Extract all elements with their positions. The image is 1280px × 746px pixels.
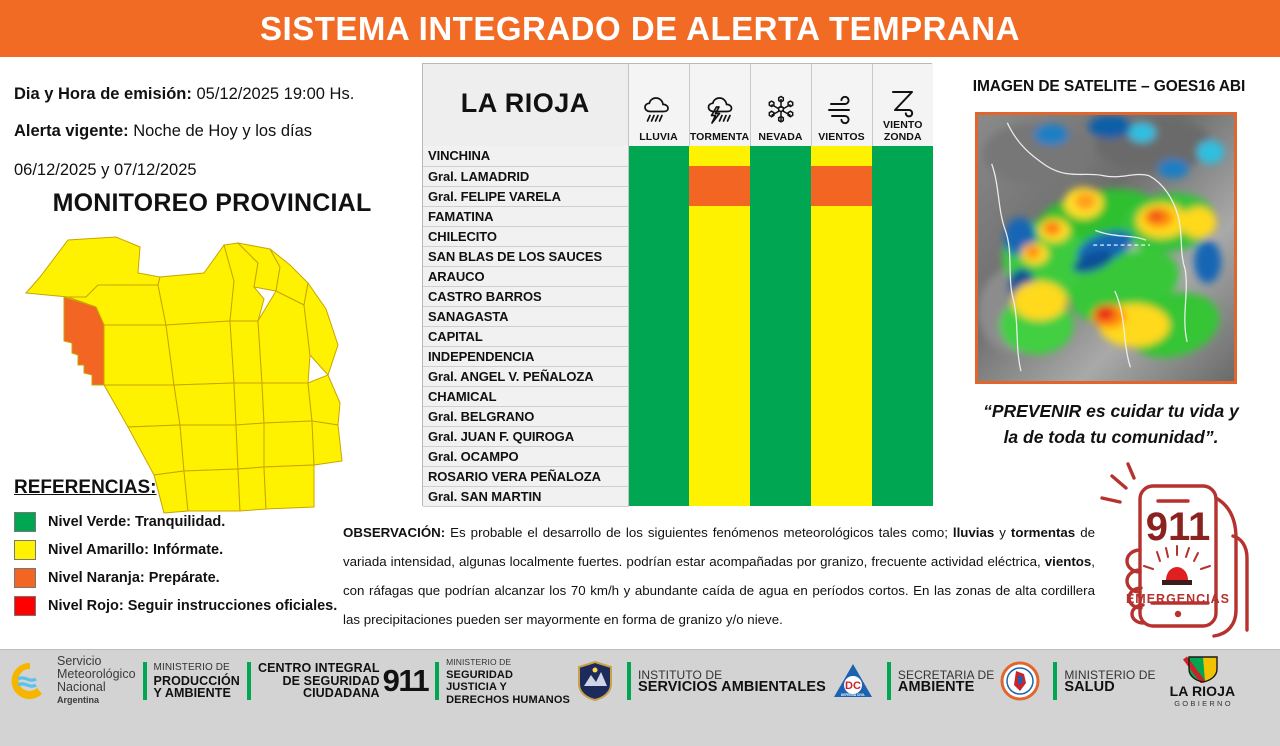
emission-value: 05/12/2025 19:00 Hs. bbox=[196, 85, 354, 103]
column-header-viento-zonda: VIENTO ZONDA bbox=[872, 64, 933, 146]
logo-ministerio-seguridad-justicia: MINISTERIO DE SEGURIDAD JUSTICIA Y DEREC… bbox=[446, 656, 570, 706]
table-row: FAMATINA bbox=[423, 206, 933, 226]
swatch-red bbox=[14, 596, 36, 616]
table-row: Gral. LAMADRID bbox=[423, 166, 933, 186]
logo-centro-integral-seguridad: CENTRO INTEGRAL DE SEGURIDAD CIUDADANA 9… bbox=[258, 656, 428, 706]
alert-level-cell bbox=[750, 146, 811, 166]
alert-level-cell bbox=[872, 386, 933, 406]
table-row: Gral. FELIPE VARELA bbox=[423, 186, 933, 206]
alert-level-cell bbox=[811, 386, 872, 406]
alert-level-cell bbox=[628, 146, 689, 166]
table-row: CAPITAL bbox=[423, 326, 933, 346]
alert-level-cell bbox=[750, 206, 811, 226]
quote-line-2: la de toda tu comunidad”. bbox=[950, 424, 1272, 450]
logo-ministerio-produccion-ambiente: MINISTERIO DE PRODUCCIÓN Y AMBIENTE bbox=[154, 656, 240, 706]
divider bbox=[247, 662, 251, 700]
quote-line-1: “PREVENIR es cuidar tu vida y bbox=[950, 398, 1272, 424]
column-header-tormenta: TORMENTA bbox=[689, 64, 750, 146]
alert-level-cell bbox=[872, 366, 933, 386]
column-label: VIENTOS bbox=[812, 132, 872, 144]
table-header-row: LA RIOJA LLUVIA bbox=[423, 64, 933, 146]
alert-level-cell bbox=[750, 186, 811, 206]
alert-level-cell bbox=[872, 226, 933, 246]
emergency-caption: EMERGENCIAS bbox=[1126, 592, 1230, 606]
alert-level-cell bbox=[689, 166, 750, 186]
department-name: Gral. SAN MARTIN bbox=[423, 486, 628, 506]
alert-level-cell bbox=[689, 466, 750, 486]
alert-level-cell bbox=[689, 146, 750, 166]
alert-level-cell bbox=[689, 406, 750, 426]
page-banner: SISTEMA INTEGRADO DE ALERTA TEMPRANA bbox=[0, 0, 1280, 57]
zonda-wind-icon bbox=[873, 86, 934, 120]
alert-level-cell bbox=[750, 286, 811, 306]
divider bbox=[887, 662, 891, 700]
alert-level-cell bbox=[628, 366, 689, 386]
policia-shield-icon bbox=[576, 656, 614, 706]
alert-level-cell bbox=[750, 426, 811, 446]
department-name: Gral. FELIPE VARELA bbox=[423, 186, 628, 206]
msj-bold1: SEGURIDAD bbox=[446, 669, 570, 682]
alert-level-cell bbox=[811, 146, 872, 166]
alert-level-cell bbox=[750, 306, 811, 326]
defensa-civil-icon: DC DEFENSA CIVIL bbox=[832, 656, 874, 706]
observation-part1: Es probable el desarrollo de los siguien… bbox=[445, 525, 953, 540]
alert-level-cell bbox=[628, 266, 689, 286]
alert-level-cell bbox=[872, 306, 933, 326]
table-row: SANAGASTA bbox=[423, 306, 933, 326]
department-name: CAPITAL bbox=[423, 326, 628, 346]
department-name: CASTRO BARROS bbox=[423, 286, 628, 306]
svg-text:DC: DC bbox=[845, 680, 861, 692]
lr-small: G O B I E R N O bbox=[1174, 699, 1231, 708]
alert-level-cell bbox=[628, 446, 689, 466]
observation-part2: y bbox=[994, 525, 1011, 540]
department-name: CHAMICAL bbox=[423, 386, 628, 406]
alert-level-cell bbox=[872, 166, 933, 186]
department-name: VINCHINA bbox=[423, 146, 628, 166]
reference-label: Nivel Rojo: Seguir instrucciones oficial… bbox=[48, 598, 337, 614]
department-name: Gral. BELGRANO bbox=[423, 406, 628, 426]
msj-bold3: DERECHOS HUMANOS bbox=[446, 694, 570, 707]
alert-level-cell bbox=[811, 366, 872, 386]
alert-level-cell bbox=[689, 366, 750, 386]
smn-text-block: Servicio Meteorológico Nacional Argentin… bbox=[57, 655, 136, 707]
alert-level-cell bbox=[628, 186, 689, 206]
column-label: TORMENTA bbox=[690, 132, 750, 144]
table-row: ROSARIO VERA PEÑALOZA bbox=[423, 466, 933, 486]
alert-level-cell bbox=[628, 246, 689, 266]
table-row: CHILECITO bbox=[423, 226, 933, 246]
lr-bold1: LA RIOJA bbox=[1170, 683, 1236, 699]
alert-level-cell bbox=[811, 286, 872, 306]
alert-level-cell bbox=[811, 406, 872, 426]
msj-bold2: JUSTICIA Y bbox=[446, 681, 570, 694]
validity-dates: 06/12/2025 y 07/12/2025 bbox=[14, 161, 197, 180]
alert-level-cell bbox=[750, 386, 811, 406]
observation-bold-tormentas: tormentas bbox=[1011, 525, 1075, 540]
column-header-vientos: VIENTOS bbox=[811, 64, 872, 146]
alert-level-cell bbox=[689, 326, 750, 346]
satellite-title: IMAGEN DE SATELITE – GOES16 ABI bbox=[940, 78, 1278, 96]
alert-level-cell bbox=[750, 446, 811, 466]
jefatura-gabinete-seal-icon bbox=[1000, 656, 1040, 706]
alert-level-cell bbox=[628, 326, 689, 346]
alert-level-cell bbox=[750, 466, 811, 486]
alert-level-cell bbox=[628, 206, 689, 226]
divider bbox=[627, 662, 631, 700]
department-name: INDEPENDENCIA bbox=[423, 346, 628, 366]
alert-level-cell bbox=[811, 326, 872, 346]
la-rioja-province-map bbox=[8, 225, 418, 515]
reference-label: Nivel Verde: Tranquilidad. bbox=[48, 514, 225, 530]
alert-level-cell bbox=[689, 346, 750, 366]
alert-level-cell bbox=[750, 266, 811, 286]
alert-level-cell bbox=[811, 446, 872, 466]
alert-level-cell bbox=[689, 226, 750, 246]
observation-label: OBSERVACIÓN: bbox=[343, 525, 445, 540]
wind-icon bbox=[812, 88, 872, 132]
column-header-nevada: NEVADA bbox=[750, 64, 811, 146]
satellite-image bbox=[975, 112, 1237, 384]
table-row: SAN BLAS DE LOS SAUCES bbox=[423, 246, 933, 266]
table-row: INDEPENDENCIA bbox=[423, 346, 933, 366]
alerts-table-container: LA RIOJA LLUVIA bbox=[422, 63, 932, 506]
alert-level-cell bbox=[872, 246, 933, 266]
alert-level-cell bbox=[628, 346, 689, 366]
alert-level-cell bbox=[811, 186, 872, 206]
references-title: REFERENCIAS: bbox=[14, 477, 157, 499]
alert-level-cell bbox=[689, 186, 750, 206]
department-name: ROSARIO VERA PEÑALOZA bbox=[423, 466, 628, 486]
alert-level-cell bbox=[872, 446, 933, 466]
rain-cloud-icon bbox=[629, 88, 689, 132]
alert-level-cell bbox=[689, 266, 750, 286]
department-name: CHILECITO bbox=[423, 226, 628, 246]
swatch-orange bbox=[14, 568, 36, 588]
alert-level-cell bbox=[689, 386, 750, 406]
smn-emblem-icon bbox=[8, 660, 52, 702]
department-name: Gral. ANGEL V. PEÑALOZA bbox=[423, 366, 628, 386]
table-row: ARAUCO bbox=[423, 266, 933, 286]
alert-level-cell bbox=[811, 166, 872, 186]
alert-level-cell bbox=[811, 306, 872, 326]
divider bbox=[1053, 662, 1057, 700]
alert-level-cell bbox=[872, 266, 933, 286]
alert-level-cell bbox=[872, 326, 933, 346]
cisc-911: 911 bbox=[383, 663, 429, 699]
alert-level-cell bbox=[628, 426, 689, 446]
alert-level-cell bbox=[811, 266, 872, 286]
alert-level-cell bbox=[628, 386, 689, 406]
swatch-yellow bbox=[14, 540, 36, 560]
smn-line4: Argentina bbox=[57, 694, 136, 707]
table-row: CHAMICAL bbox=[423, 386, 933, 406]
alert-level-cell bbox=[628, 226, 689, 246]
satellite-quote: “PREVENIR es cuidar tu vida y la de toda… bbox=[950, 398, 1272, 450]
alert-level-cell bbox=[689, 426, 750, 446]
alert-level-cell bbox=[689, 246, 750, 266]
alert-level-cell bbox=[872, 486, 933, 506]
swatch-green bbox=[14, 512, 36, 532]
logo-strip: Servicio Meteorológico Nacional Argentin… bbox=[0, 654, 1280, 708]
column-header-lluvia: LLUVIA bbox=[628, 64, 689, 146]
observation-bold-lluvias: lluvias bbox=[953, 525, 994, 540]
alert-level-cell bbox=[811, 486, 872, 506]
table-row: Gral. JUAN F. QUIROGA bbox=[423, 426, 933, 446]
snowflake-icon bbox=[751, 88, 811, 132]
alert-level-cell bbox=[628, 466, 689, 486]
mpa-bold2: Y AMBIENTE bbox=[154, 687, 240, 700]
alert-level-cell bbox=[689, 446, 750, 466]
sa-bold1: AMBIENTE bbox=[898, 681, 994, 694]
column-label: VIENTO ZONDA bbox=[873, 120, 934, 143]
msj-small: MINISTERIO DE bbox=[446, 656, 570, 669]
mpa-small: MINISTERIO DE bbox=[154, 662, 240, 675]
alert-level-cell bbox=[628, 166, 689, 186]
emission-label: Dia y Hora de emisión: bbox=[14, 85, 192, 103]
alert-level-cell bbox=[750, 226, 811, 246]
alert-level-cell bbox=[689, 206, 750, 226]
department-name: SAN BLAS DE LOS SAUCES bbox=[423, 246, 628, 266]
logo-instituto-servicios-ambientales: INSTITUTO DE SERVICIOS AMBIENTALES bbox=[638, 656, 826, 706]
reference-label: Nivel Amarillo: Infórmate. bbox=[48, 542, 223, 558]
validity-label: Alerta vigente: bbox=[14, 122, 129, 140]
column-label: LLUVIA bbox=[629, 132, 689, 144]
la-rioja-shield-icon bbox=[1183, 655, 1221, 683]
table-row: VINCHINA bbox=[423, 146, 933, 166]
logo-ministerio-salud: MINISTERIO DE SALUD bbox=[1064, 656, 1155, 706]
alert-level-cell bbox=[750, 346, 811, 366]
alert-level-cell bbox=[689, 486, 750, 506]
footer-bar: Servicio Meteorológico Nacional Argentin… bbox=[0, 649, 1280, 746]
cisc-bold1: CENTRO INTEGRAL bbox=[258, 662, 380, 675]
smn-line3: Nacional bbox=[57, 681, 136, 694]
alerts-table: LA RIOJA LLUVIA bbox=[423, 64, 933, 507]
column-label: NEVADA bbox=[751, 132, 811, 144]
alert-level-cell bbox=[628, 486, 689, 506]
alert-level-cell bbox=[811, 466, 872, 486]
table-row: Gral. BELGRANO bbox=[423, 406, 933, 426]
alert-level-cell bbox=[750, 366, 811, 386]
alert-level-cell bbox=[750, 406, 811, 426]
validity-line: Alerta vigente: Noche de Hoy y los días bbox=[14, 122, 312, 141]
alert-bulletin-page: SISTEMA INTEGRADO DE ALERTA TEMPRANA Dia… bbox=[0, 0, 1280, 746]
thunderstorm-icon bbox=[690, 88, 750, 132]
section-title: MONITOREO PROVINCIAL bbox=[22, 189, 402, 218]
alert-level-cell bbox=[750, 326, 811, 346]
emergency-number: 911 bbox=[1146, 505, 1211, 549]
alert-level-cell bbox=[628, 306, 689, 326]
alert-level-cell bbox=[689, 286, 750, 306]
observation-bold-vientos: vientos bbox=[1045, 554, 1092, 569]
table-row: Gral. SAN MARTIN bbox=[423, 486, 933, 506]
alert-level-cell bbox=[811, 246, 872, 266]
alert-level-cell bbox=[628, 286, 689, 306]
table-row: Gral. OCAMPO bbox=[423, 446, 933, 466]
alert-level-cell bbox=[628, 406, 689, 426]
validity-value: Noche de Hoy y los días bbox=[133, 122, 312, 140]
emission-line: Dia y Hora de emisión: 05/12/2025 19:00 … bbox=[14, 85, 354, 104]
alert-level-cell bbox=[811, 346, 872, 366]
department-name: Gral. OCAMPO bbox=[423, 446, 628, 466]
alert-level-cell bbox=[872, 466, 933, 486]
alert-level-cell bbox=[872, 426, 933, 446]
alert-level-cell bbox=[689, 306, 750, 326]
alert-level-cell bbox=[872, 146, 933, 166]
page-title: SISTEMA INTEGRADO DE ALERTA TEMPRANA bbox=[260, 10, 1020, 48]
isa-bold1: SERVICIOS AMBIENTALES bbox=[638, 681, 826, 694]
table-row: Gral. ANGEL V. PEÑALOZA bbox=[423, 366, 933, 386]
divider bbox=[435, 662, 439, 700]
department-name: Gral. JUAN F. QUIROGA bbox=[423, 426, 628, 446]
alert-level-cell bbox=[750, 166, 811, 186]
alert-level-cell bbox=[872, 406, 933, 426]
alert-level-cell bbox=[872, 346, 933, 366]
divider bbox=[143, 662, 147, 700]
alert-level-cell bbox=[872, 206, 933, 226]
alert-level-cell bbox=[872, 186, 933, 206]
department-name: ARAUCO bbox=[423, 266, 628, 286]
logo-servicio-meteorologico-nacional: Servicio Meteorológico Nacional Argentin… bbox=[8, 656, 136, 706]
table-row: CASTRO BARROS bbox=[423, 286, 933, 306]
department-name: FAMATINA bbox=[423, 206, 628, 226]
observation-text: OBSERVACIÓN: Es probable el desarrollo d… bbox=[343, 518, 1095, 634]
department-name: SANAGASTA bbox=[423, 306, 628, 326]
alert-level-cell bbox=[811, 226, 872, 246]
alert-level-cell bbox=[872, 286, 933, 306]
svg-text:DEFENSA CIVIL: DEFENSA CIVIL bbox=[841, 693, 865, 697]
alerts-table-body: VINCHINAGral. LAMADRIDGral. FELIPE VAREL… bbox=[423, 146, 933, 506]
cisc-bold3: CIUDADANA bbox=[258, 687, 380, 700]
province-title: LA RIOJA bbox=[423, 64, 628, 146]
department-name: Gral. LAMADRID bbox=[423, 166, 628, 186]
alert-level-cell bbox=[750, 486, 811, 506]
alert-level-cell bbox=[811, 206, 872, 226]
reference-label: Nivel Naranja: Prepárate. bbox=[48, 570, 220, 586]
alert-level-cell bbox=[750, 246, 811, 266]
alert-level-cell bbox=[811, 426, 872, 446]
emergency-911-graphic: 911 EMERGENCIAS bbox=[1096, 462, 1274, 648]
logo-secretaria-ambiente: SECRETARIA DE AMBIENTE bbox=[898, 656, 994, 706]
logo-la-rioja-gobierno: LA RIOJA G O B I E R N O bbox=[1170, 656, 1236, 706]
ms-bold1: SALUD bbox=[1064, 681, 1155, 694]
